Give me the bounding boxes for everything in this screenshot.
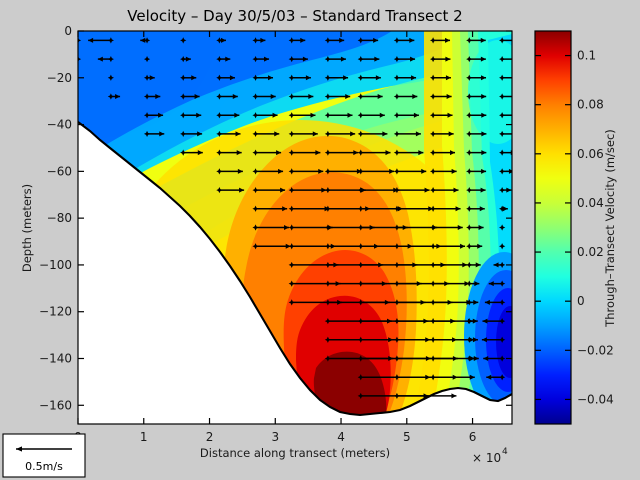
y-tick-label: −80 — [47, 211, 72, 225]
velocity-scale-legend: 0.5m/s — [3, 434, 85, 477]
x-tick-label: 6 — [469, 430, 477, 444]
x-tick-label: 2 — [206, 430, 214, 444]
y-tick-label: −60 — [47, 164, 72, 178]
page-title: Velocity – Day 30/5/03 – Standard Transe… — [127, 7, 462, 25]
x-exponent-base: × 10 — [472, 451, 501, 465]
y-tick-label: 0 — [64, 24, 72, 38]
y-tick-label: −120 — [39, 305, 72, 319]
colorbar-tick-label: 0.06 — [577, 147, 604, 161]
y-axis-label: Depth (meters) — [20, 184, 34, 272]
x-axis-label: Distance along transect (meters) — [200, 446, 390, 460]
x-tick-label: 5 — [403, 430, 411, 444]
velocity-transect-figure: Velocity – Day 30/5/03 – Standard Transe… — [0, 0, 640, 480]
y-tick-label: −160 — [39, 398, 72, 412]
colorbar-tick-label: 0.02 — [577, 245, 604, 259]
x-exponent-power: 4 — [502, 447, 508, 457]
figure-canvas: Velocity – Day 30/5/03 – Standard Transe… — [0, 0, 640, 480]
colorbar-tick-label: 0.04 — [577, 196, 604, 210]
y-tick-label: −140 — [39, 352, 72, 366]
y-tick-label: −20 — [47, 71, 72, 85]
colorbar-label: Through–Transect Velocity (m/sec) — [603, 129, 617, 328]
x-tick-label: 1 — [140, 430, 148, 444]
scale-legend-label: 0.5m/s — [25, 460, 63, 473]
colorbar-tick-label: 0.08 — [577, 98, 604, 112]
y-tick-label: −100 — [39, 258, 72, 272]
colorbar-tick-label: 0.1 — [577, 49, 596, 63]
y-tick-label: −40 — [47, 118, 72, 132]
colorbar-tick-label: 0 — [577, 294, 585, 308]
x-tick-label: 3 — [271, 430, 279, 444]
colorbar-gradient — [535, 31, 571, 424]
colorbar-tick-label: −0.02 — [577, 343, 614, 357]
x-tick-label: 4 — [337, 430, 345, 444]
colorbar-tick-label: −0.04 — [577, 392, 614, 406]
